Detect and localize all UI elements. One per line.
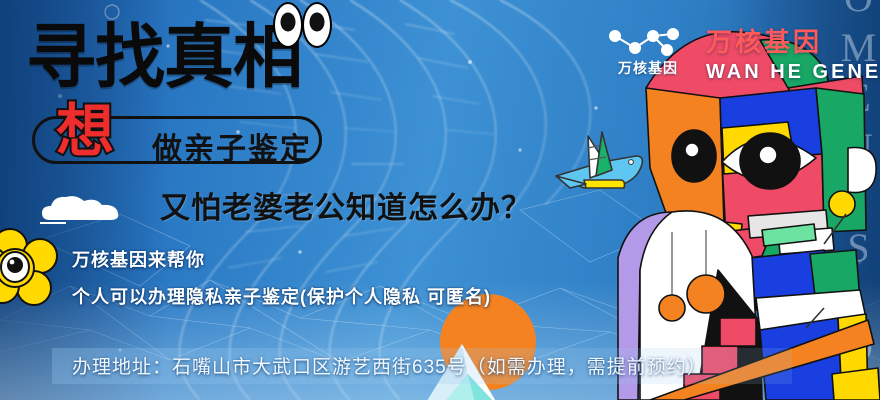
flower-eye-icon — [0, 228, 68, 314]
body-line-1: 万核基因来帮你 — [72, 246, 205, 272]
address-text: 办理地址：石嘴山市大武口区游艺西街635号（如需办理，需提前预约） — [72, 352, 707, 379]
stamp-character: 想 — [56, 103, 114, 161]
pupil-right — [310, 13, 325, 32]
brand-main-en-text: WAN HE GENE — [706, 61, 876, 84]
brand-logo-small: 万核基因 — [598, 26, 698, 78]
brand-main-cn-text: 万核基因 — [706, 22, 876, 59]
molecule-icon — [603, 26, 693, 60]
cloud-icon — [36, 190, 132, 226]
promo-banner: WOMEN'S DAY — [0, 0, 880, 400]
cartoon-eyes-icon — [273, 2, 333, 48]
body-line-2: 个人可以办理隐私亲子鉴定(保护个人隐私 可匿名) — [72, 283, 491, 309]
cartoon-eye-left — [273, 2, 303, 48]
brand-small-cn-text: 万核基因 — [598, 58, 698, 78]
pill-label: 做亲子鉴定 — [152, 124, 312, 168]
page-title: 寻找真相 — [26, 22, 302, 92]
subheadline: 又怕老婆老公知道怎么办？ — [160, 183, 532, 227]
brand-logo-main: 万核基因 WAN HE GENE — [706, 22, 876, 84]
pupil-left — [281, 13, 296, 32]
cartoon-eye-right — [302, 2, 332, 48]
